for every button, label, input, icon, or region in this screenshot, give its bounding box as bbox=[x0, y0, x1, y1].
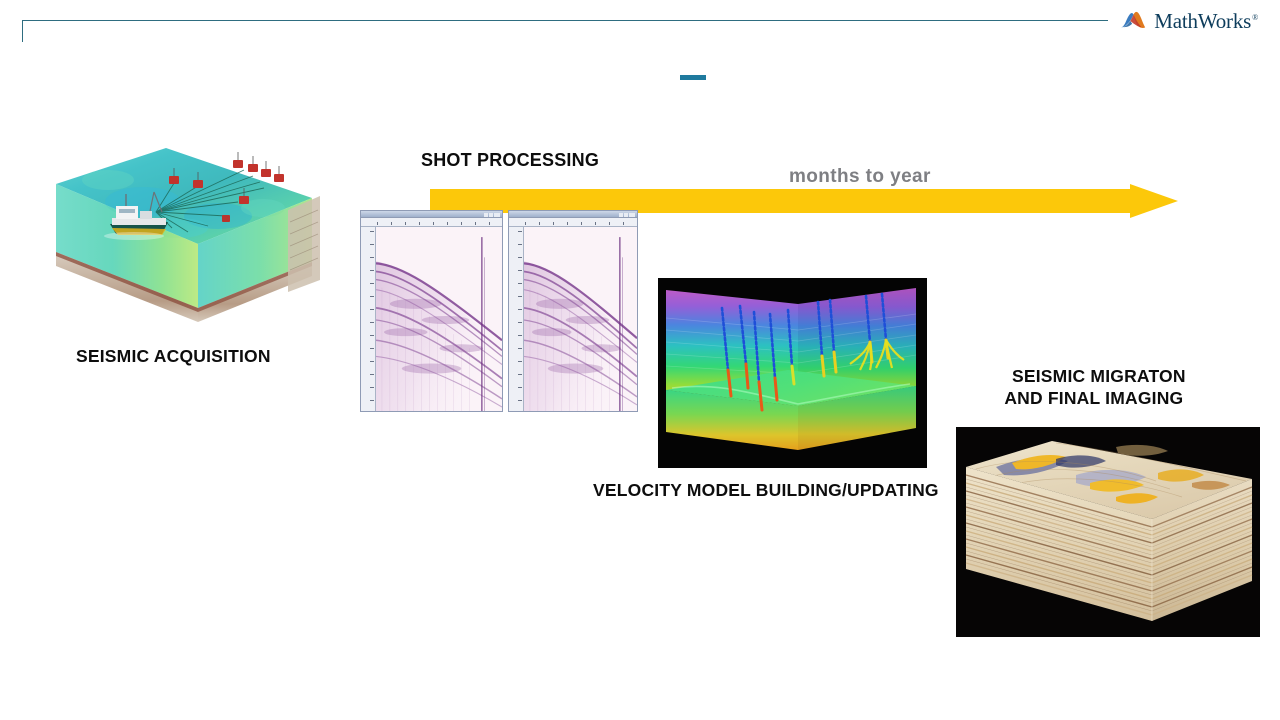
shot-gather-x-axis-2 bbox=[509, 218, 637, 227]
shot-gather-window-2 bbox=[508, 210, 638, 412]
shot-gather-y-axis-1 bbox=[361, 227, 376, 411]
mathworks-membrane-logo-icon bbox=[1119, 7, 1149, 35]
shot-gather-titlebar-1 bbox=[361, 211, 502, 218]
slide-canvas: MathWorks® bbox=[0, 0, 1280, 720]
label-shot-processing: SHOT PROCESSING bbox=[421, 149, 599, 172]
shot-gather-y-axis-2 bbox=[509, 227, 524, 411]
migrated-seismic-cube-image bbox=[956, 427, 1260, 637]
label-velocity-model: VELOCITY MODEL BUILDING/UPDATING bbox=[593, 479, 939, 501]
label-seismic-acquisition: SEISMIC ACQUISITION bbox=[76, 345, 271, 367]
mathworks-brand: MathWorks® bbox=[1119, 6, 1258, 36]
shot-gather-canvas-2 bbox=[524, 227, 637, 411]
label-migration-line1: SEISMIC MIGRATON bbox=[1012, 366, 1186, 386]
label-migration-line2: AND FINAL IMAGING bbox=[1002, 387, 1186, 409]
shot-gather-window-1 bbox=[360, 210, 503, 412]
header-rule bbox=[22, 20, 1108, 21]
seismic-acquisition-image bbox=[48, 140, 320, 325]
title-underline-dash bbox=[680, 75, 706, 80]
brand-name: MathWorks® bbox=[1154, 9, 1258, 34]
velocity-model-image bbox=[658, 278, 927, 468]
shot-gather-canvas-1 bbox=[376, 227, 502, 411]
label-seismic-migration: SEISMIC MIGRATON AND FINAL IMAGING bbox=[1012, 365, 1186, 410]
shot-gather-x-axis-1 bbox=[361, 218, 502, 227]
shot-gather-titlebar-2 bbox=[509, 211, 637, 218]
header-rule-left-tick bbox=[22, 20, 23, 42]
brand-trademark: ® bbox=[1252, 13, 1258, 22]
